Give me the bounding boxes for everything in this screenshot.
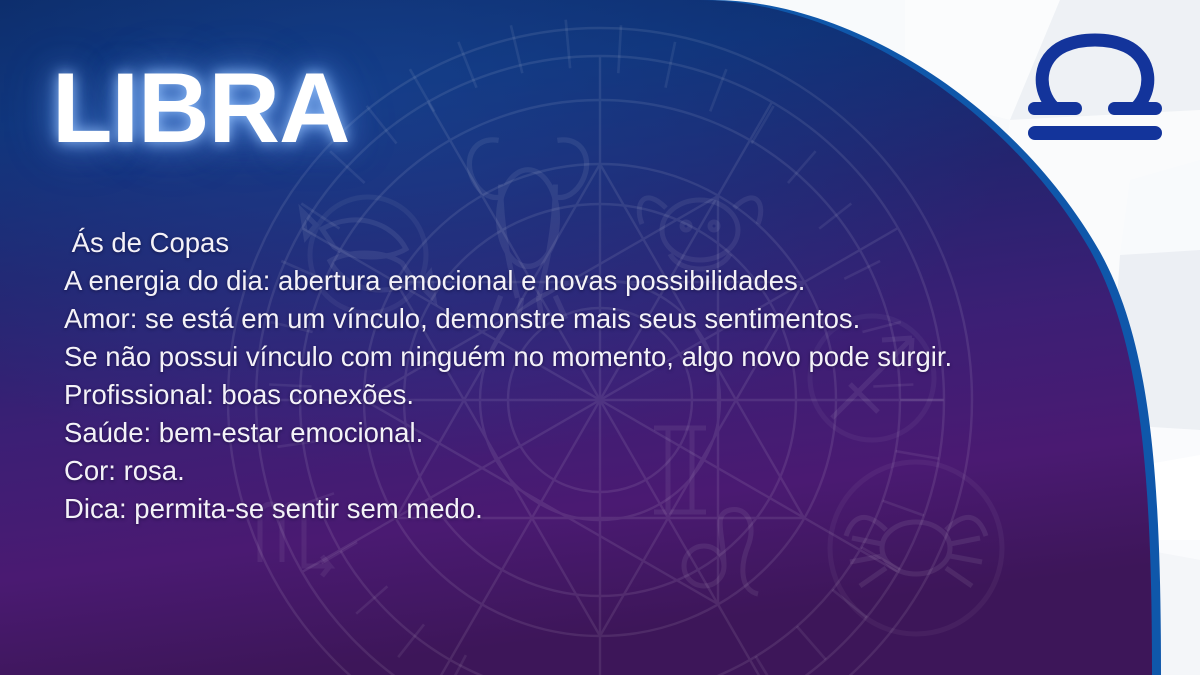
reading-line: A energia do dia: abertura emocional e n…	[64, 262, 964, 300]
reading-line: Profissional: boas conexões.	[64, 376, 964, 414]
reading-line: Dica: permita-se sentir sem medo.	[64, 490, 964, 528]
libra-scales-glyph-svg	[1016, 30, 1174, 148]
reading-line: Cor: rosa.	[64, 452, 964, 490]
reading-line: Ás de Copas	[64, 224, 964, 262]
libra-scales-icon	[1016, 30, 1174, 148]
reading-line: Amor: se está em um vínculo, demonstre m…	[64, 300, 964, 338]
horoscope-text-block: Ás de Copas A energia do dia: abertura e…	[64, 224, 964, 528]
page-title: LIBRA	[52, 58, 349, 157]
reading-line: Se não possui vínculo com ninguém no mom…	[64, 338, 964, 376]
reading-line: Saúde: bem-estar emocional.	[64, 414, 964, 452]
horoscope-card: LIBRA Ás de Copas A energia do dia: aber…	[0, 0, 1200, 675]
